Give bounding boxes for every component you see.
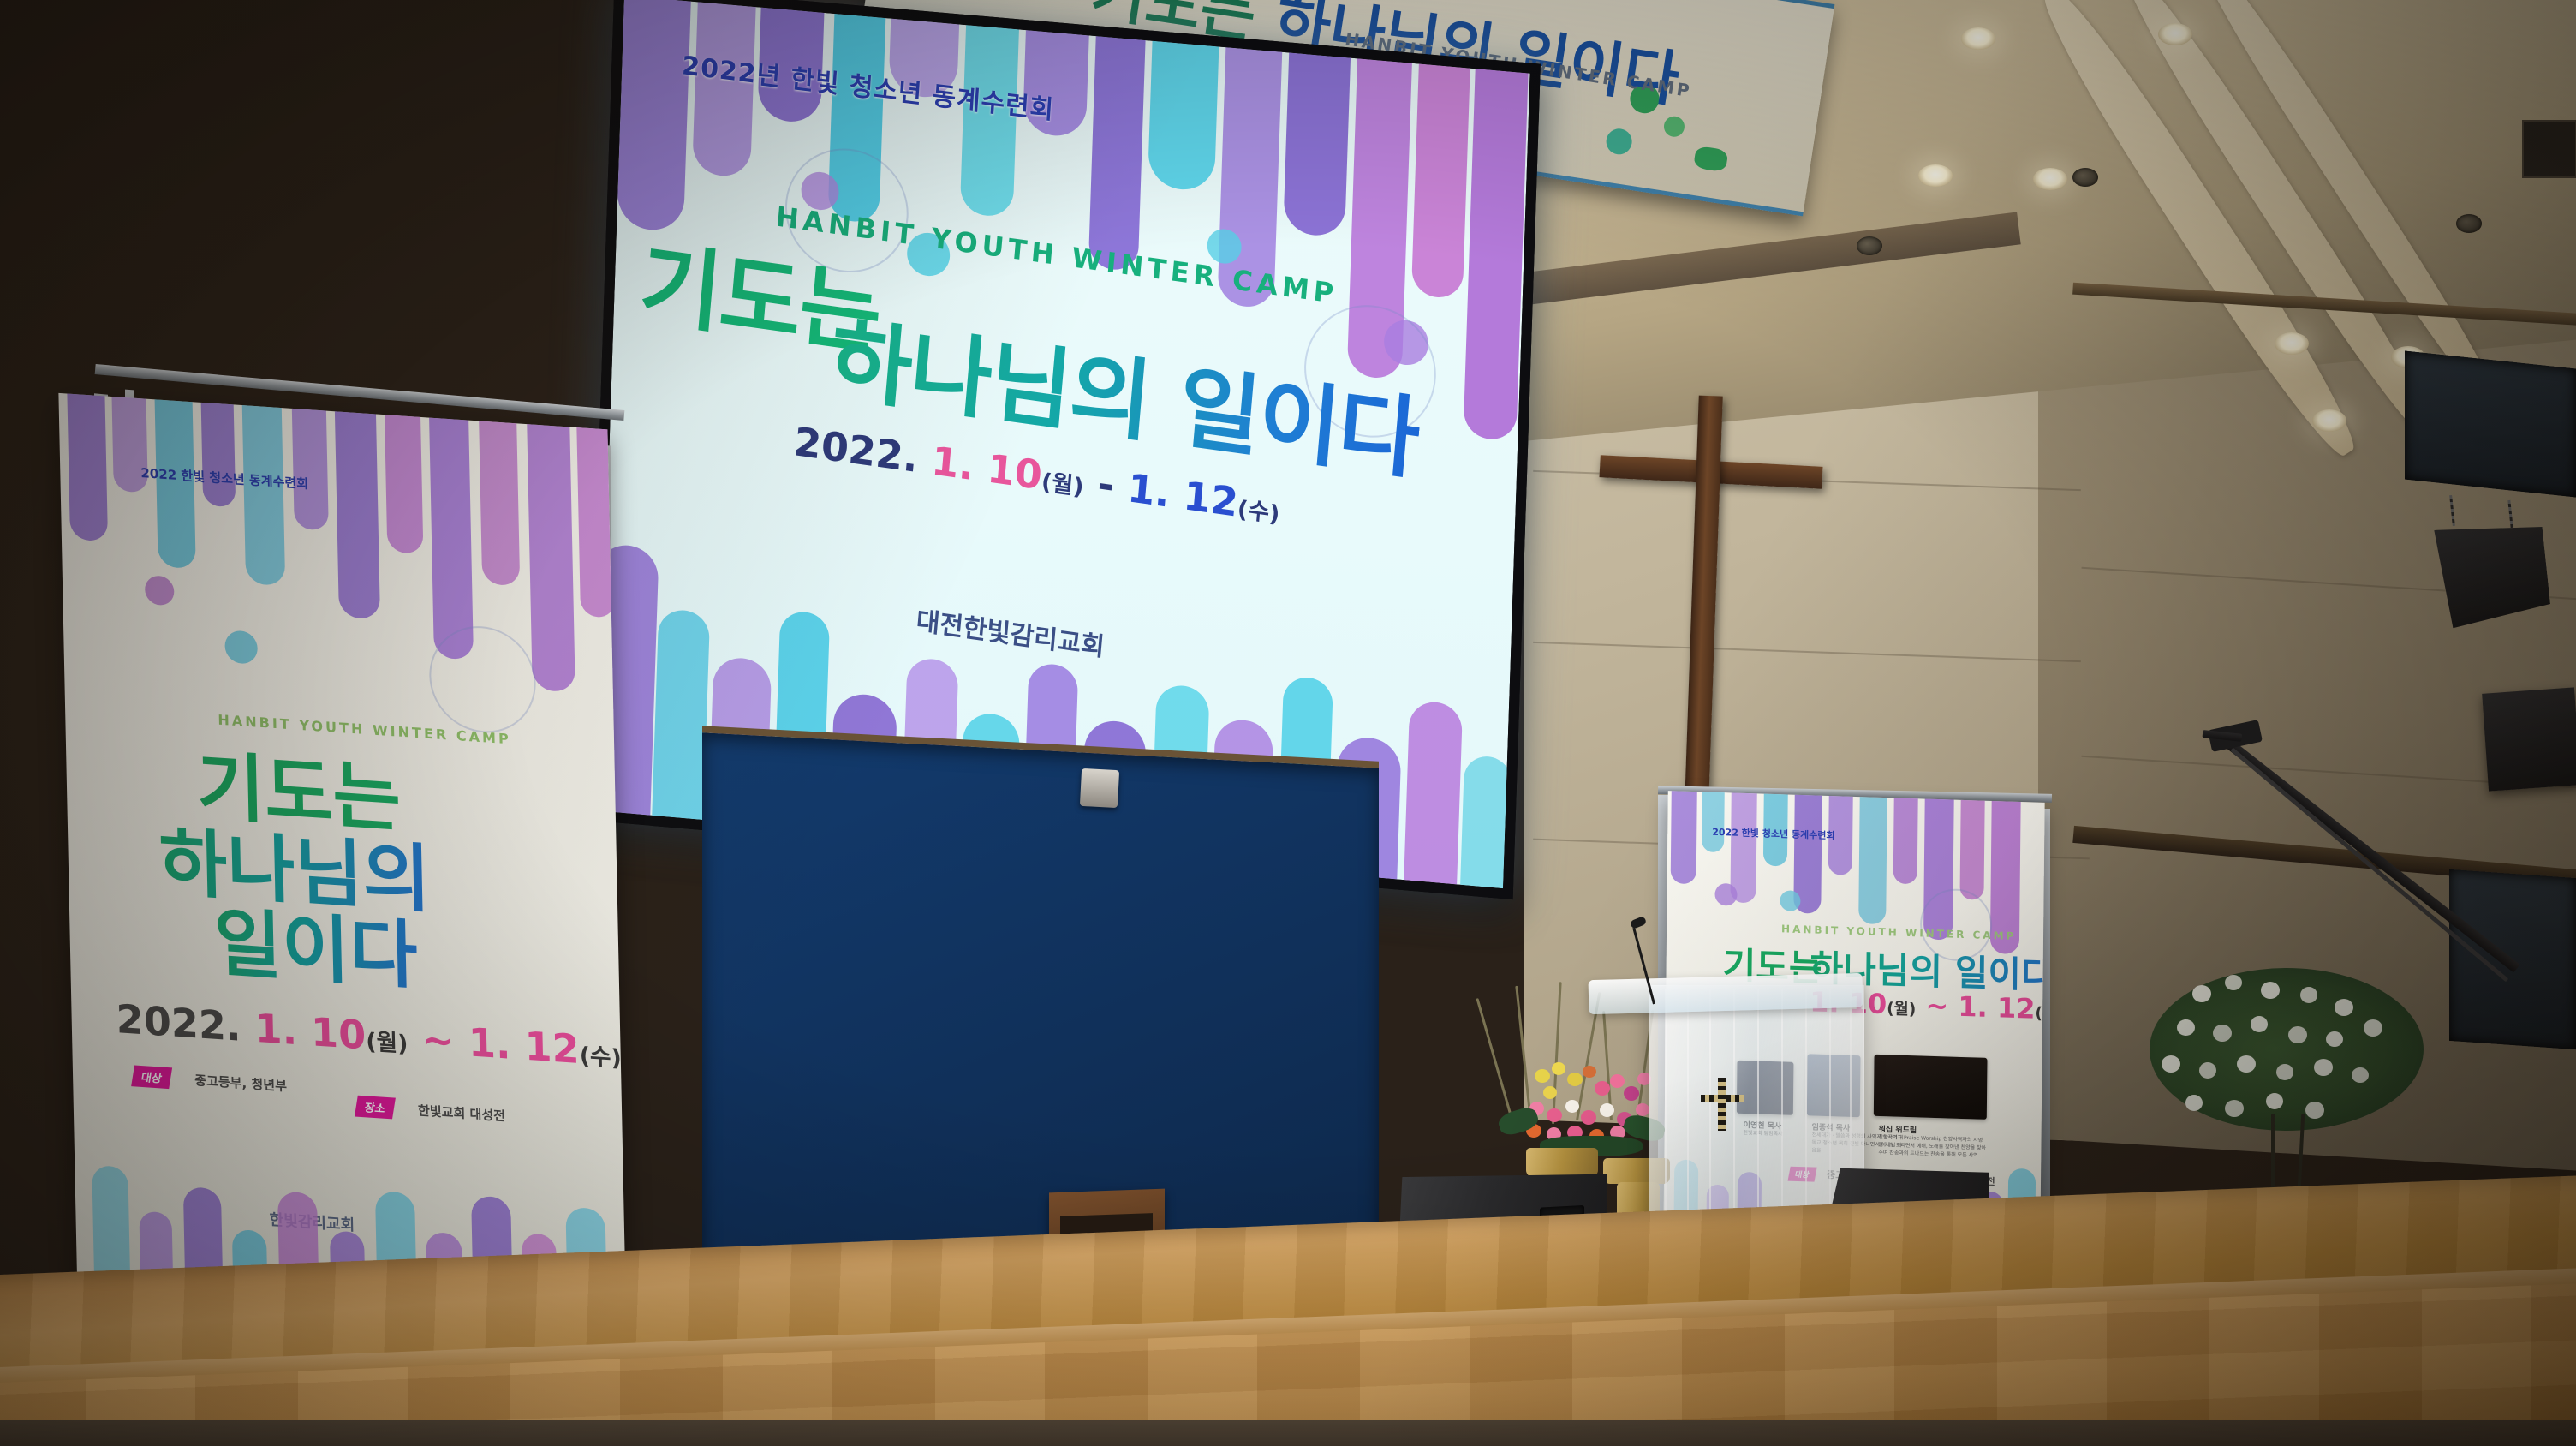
- banner-dot: [1605, 127, 1634, 156]
- flower-petal: [1624, 1086, 1639, 1101]
- flower-petal: [2177, 1019, 2195, 1036]
- flower-petal: [2314, 1059, 2333, 1076]
- standing-banner-left: 2022 한빛 청소년 동계수련회 HANBIT YOUTH WINTER CA…: [58, 393, 626, 1337]
- banner-left-title-line3: 일이다: [212, 882, 418, 1003]
- flower-petal: [2192, 985, 2211, 1002]
- flower-petal: [2364, 1019, 2382, 1037]
- flower-petal: [2352, 1067, 2369, 1083]
- decor-drip: [429, 401, 474, 660]
- decor-drip: [67, 393, 108, 542]
- led-screen-footer: 대전한빛감리교회: [915, 600, 1106, 664]
- decor-drip: [291, 393, 328, 531]
- ceiling-spotlight: [1857, 236, 1882, 255]
- blue-choir-backdrop: [702, 726, 1379, 1299]
- decor-drip: [1404, 700, 1464, 888]
- decor-drip: [652, 608, 710, 835]
- flower-petal: [1610, 1074, 1625, 1088]
- flower-petal: [2305, 1102, 2324, 1119]
- ceiling-downlight: [2033, 168, 2067, 190]
- decor-drip: [1671, 791, 1697, 884]
- flower-petal: [2237, 1055, 2256, 1073]
- flower-petal: [1581, 1110, 1596, 1125]
- decor-drip: [1459, 755, 1512, 888]
- ceiling-downlight: [1918, 164, 1953, 187]
- flower-petal: [2213, 1025, 2232, 1042]
- flower-petal: [2185, 1095, 2203, 1111]
- banner-left-target-value: 중고등부, 청년부: [194, 1071, 287, 1095]
- decor-drip: [1463, 43, 1529, 441]
- flower-petal: [2334, 999, 2353, 1016]
- pulpit-top-desk: [1589, 973, 1863, 1014]
- flower-petal: [2162, 1055, 2180, 1073]
- flower-petal: [2225, 975, 2242, 990]
- sanctuary-floor-foreground: [0, 1420, 2576, 1446]
- projector-unit: [1080, 768, 1119, 808]
- banner-dot: [1693, 146, 1728, 172]
- decor-blob: [1714, 883, 1737, 906]
- flower-petal: [1583, 1066, 1596, 1078]
- banner-left-chip-place: 장소: [355, 1096, 396, 1120]
- decor-drip: [1088, 10, 1147, 272]
- decor-drip: [385, 397, 424, 554]
- decor-drip: [1858, 791, 1887, 924]
- decor-drip: [334, 394, 380, 619]
- decor-drip: [1148, 15, 1219, 193]
- flower-petal: [2199, 1062, 2216, 1079]
- decor-drip: [200, 393, 236, 508]
- ceiling-spotlight: [2072, 168, 2098, 187]
- banner-left-place-value: 한빛교회 대성전: [418, 1101, 505, 1125]
- flower-petal: [1552, 1062, 1565, 1075]
- ceiling-downlight: [2158, 23, 2192, 45]
- decor-drip: [479, 403, 520, 586]
- banner-left-date: 2022. 1. 10(월) ~ 1. 12(수): [116, 995, 622, 1075]
- flower-petal: [1600, 1103, 1614, 1117]
- speaker-desc: 찬양사역자 Praise Worship 찬양사역자의 사명을 기도 드리면서 …: [1878, 1133, 1986, 1160]
- decor-blob: [224, 630, 258, 665]
- flower-petal: [1567, 1073, 1583, 1086]
- flower-petal: [1543, 1086, 1557, 1099]
- flower-petal: [2225, 1100, 2244, 1117]
- flower-petal: [2261, 982, 2280, 999]
- speaker-photo: [1874, 1055, 1988, 1120]
- flower-petal: [2326, 1031, 2343, 1047]
- banner-dot: [1662, 115, 1685, 138]
- flower-petal: [2276, 1064, 2293, 1080]
- decor-drip: [1702, 791, 1725, 852]
- flower-petal: [2251, 1016, 2268, 1032]
- decor-drip: [1411, 38, 1471, 299]
- flower-petal: [1595, 1081, 1610, 1096]
- flower-base-pedestal: [1526, 1148, 1598, 1177]
- flower-petal: [2266, 1093, 2283, 1109]
- flower-petal: [2300, 987, 2317, 1003]
- hanging-speaker: [2482, 687, 2576, 791]
- flower-petal: [2288, 1026, 2307, 1043]
- decor-drip: [1283, 27, 1351, 237]
- decor-drip: [617, 0, 692, 232]
- ceiling-downlight: [2275, 332, 2309, 355]
- balcony-opening: [2405, 350, 2576, 497]
- decor-drip: [527, 407, 575, 692]
- decor-drip: [1893, 791, 1918, 884]
- banner-left-chip-target: 대상: [131, 1065, 172, 1089]
- flower-petal: [1547, 1108, 1562, 1122]
- decor-drip: [1959, 791, 1984, 900]
- ceiling-spotlight: [2456, 214, 2482, 233]
- decor-drip: [1730, 791, 1756, 903]
- decor-ring: [428, 623, 537, 736]
- sanctuary-stage-photo: 기도는 하나님의 일이다 일시_2022. 1. 10(월) - 1. 12(수…: [0, 0, 2576, 1446]
- ceiling-downlight: [2312, 409, 2346, 432]
- ceiling-downlight: [1961, 27, 1995, 50]
- pulpit-cross-vertical: [1718, 1078, 1726, 1131]
- flower-petal: [1636, 1103, 1649, 1116]
- flower-petal: [1535, 1069, 1550, 1083]
- flower-petal: [1565, 1100, 1579, 1113]
- ceiling-vent: [2522, 120, 2576, 178]
- decor-blob: [1780, 890, 1800, 911]
- decor-blob: [145, 575, 175, 606]
